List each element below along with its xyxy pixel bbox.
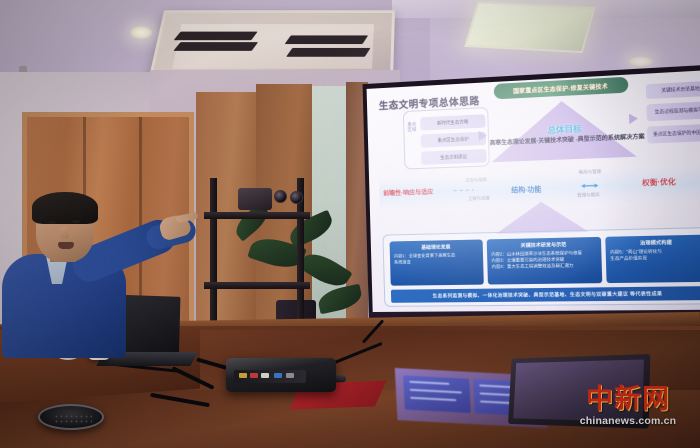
ac-vent <box>173 42 258 51</box>
eyebrow <box>70 215 81 217</box>
projected-slide: 生态文明专项总体思路 国家重点区生态保护-修复关键技术 总体目标 高寒生态理论发… <box>367 70 700 312</box>
port-icon <box>286 373 294 378</box>
rack-shelf <box>204 282 310 289</box>
arrow-right-icon <box>629 113 638 124</box>
bottom-box-3: 治理模式构建 内容5："两山"理论转化与 生态产品价值实现 <box>605 235 700 283</box>
port-panel <box>234 370 306 383</box>
bottom-box-1-line-2: 系统演变 <box>394 258 479 266</box>
speaker-grille-icon <box>54 414 92 424</box>
bottom-box-1-title: 基础理论发展 <box>394 243 479 252</box>
presenter-hair <box>32 192 98 224</box>
ac-vent <box>286 48 370 57</box>
slide-blue-summary-bar: 生态系列监测与模拟、一体化治理技术突破、典型示范基地、生态文明与双碳重大建议 等… <box>391 286 700 303</box>
left-group-label: 重点区域 <box>407 122 416 133</box>
presenter <box>0 196 190 356</box>
mid-right-label: 权衡·优化 <box>642 177 676 189</box>
left-group-container: 重点区域 新时代生态方略 重点区生态保护 生态文明建设 <box>403 107 490 170</box>
port-icon <box>274 373 282 378</box>
downlight-icon <box>130 26 152 39</box>
mid-left-label: 前瞻性·响应与适应 <box>383 187 433 198</box>
watermark-url: chinanews.com.cn <box>566 415 690 427</box>
bottom-box-2: 关键技术研发与示范 内容2：山水林田湖草沙冰生态系统保护与修复 内容3：土壤重要… <box>487 237 603 285</box>
bottom-box-3-line-2: 生态产品价值实现 <box>610 254 700 262</box>
port-icon <box>239 373 247 378</box>
left-box-2: 重点区生态保护 <box>421 132 487 148</box>
slide-green-banner: 国家重点区生态保护-修复关键技术 <box>494 77 629 100</box>
watermark-logo-text: 中新网 <box>566 386 690 413</box>
port-icon <box>261 373 269 378</box>
downlight-icon <box>628 56 654 67</box>
left-box-3: 生态文明建设 <box>421 149 487 165</box>
rack-shelf <box>204 212 310 219</box>
bottom-box-2-line-3: 内容4：重大生态工程调整效益及碳汇潜力 <box>492 262 598 270</box>
eye <box>48 221 56 224</box>
conference-speakerphone <box>38 404 104 430</box>
mid-gray-label-1: 过去与现状 <box>465 177 487 184</box>
video-conference-camera <box>238 188 272 210</box>
ac-vent <box>174 32 258 41</box>
watermark: 中新网 chinanews.com.cn <box>566 386 690 438</box>
mid-gray-label-3: 格局与管理 <box>578 169 601 176</box>
mid-gray-label-2: 工程与治理 <box>468 195 490 202</box>
projection-screen: 生态文明专项总体思路 国家重点区生态保护-修复关键技术 总体目标 高寒生态理论发… <box>363 64 700 338</box>
slide-content: 生态文明专项总体思路 国家重点区生态保护-修复关键技术 总体目标 高寒生态理论发… <box>367 70 700 312</box>
bottom-box-1: 基础理论发展 内容1：全球变化背景下高寒生态 系统演变 <box>390 239 484 285</box>
arrow-right-icon <box>478 131 487 142</box>
ac-vent <box>285 35 368 44</box>
right-box-3: 重点区生态保护的中国案例 <box>647 124 700 144</box>
mid-gray-label-4: 管理与格局 <box>577 192 600 199</box>
camera-lens-icon <box>290 191 303 204</box>
camera-lens-icon <box>274 190 287 203</box>
eyebrow <box>46 216 57 218</box>
photo-scene: 生态文明专项总体思路 国家重点区生态保护-修复关键技术 总体目标 高寒生态理论发… <box>0 0 700 448</box>
mid-center-label: 结构-功能 <box>511 183 541 194</box>
port-icon <box>250 373 258 378</box>
right-box-1: 关键技术示范基地 <box>646 81 700 99</box>
right-box-2: 生态过程监测与模拟平台 <box>646 101 700 121</box>
bottom-box-2-title: 关键技术研发与示范 <box>491 240 597 249</box>
eye <box>72 220 80 223</box>
bottom-box-3-title: 治理模式构建 <box>610 238 700 247</box>
left-box-1: 新时代生态方略 <box>420 114 486 130</box>
light-panel-icon <box>464 1 595 53</box>
av-switcher-box <box>226 358 336 392</box>
lower-triangle-shape <box>495 200 589 234</box>
mouth <box>58 242 74 249</box>
bottom-group-container: 基础理论发展 内容1：全球变化背景下高寒生态 系统演变 关键技术研发与示范 内容… <box>382 227 700 307</box>
nose <box>60 227 69 239</box>
